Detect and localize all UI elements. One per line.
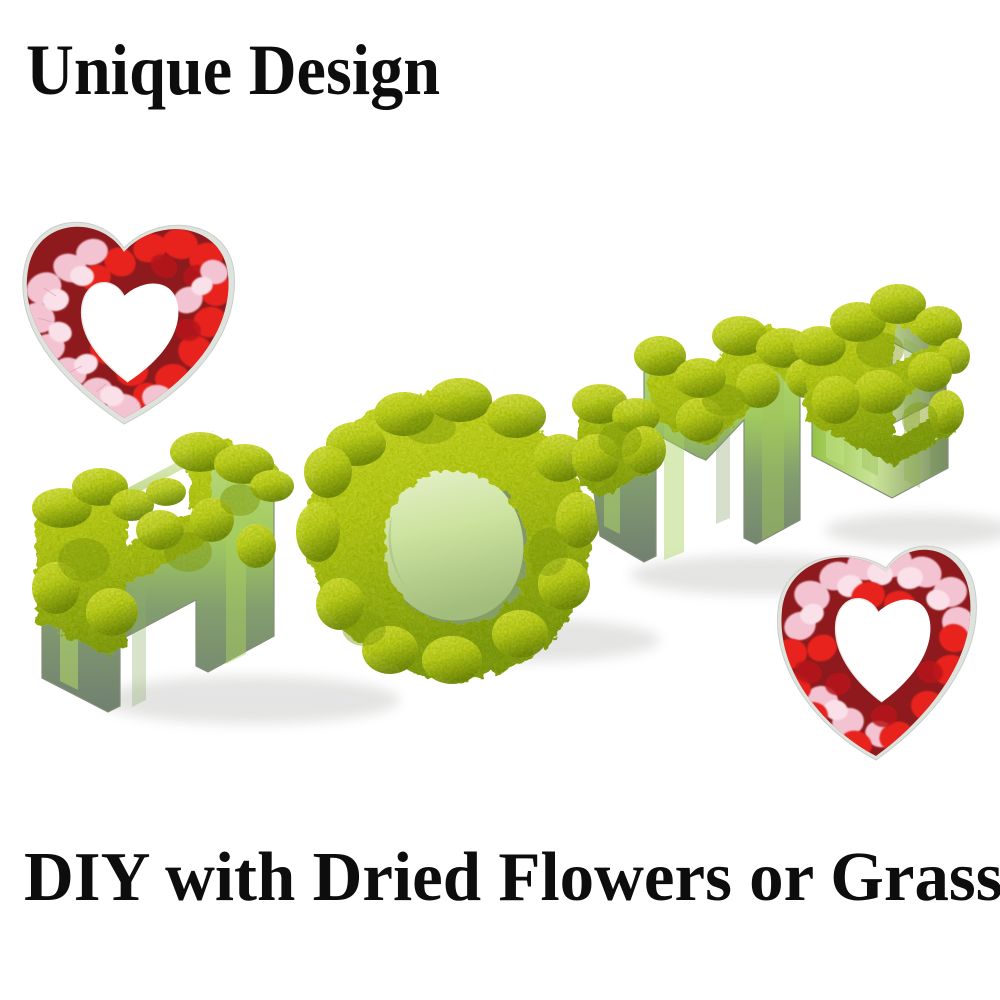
product-image-canvas: Unique Design DIY with Dried Flowers or … — [0, 0, 1000, 1000]
headline-bottom: DIY with Dried Flowers or Grass — [24, 843, 1000, 913]
letter-h-planter — [32, 432, 294, 712]
letter-e-planter — [794, 284, 970, 498]
heart-wreath-top-left — [10, 200, 250, 440]
letter-m-planter — [572, 316, 826, 562]
letter-o-planter — [296, 378, 600, 684]
headline-top: Unique Design — [26, 34, 440, 106]
product-shadow — [100, 513, 1000, 724]
heart-wreath-bottom-right — [770, 535, 990, 770]
